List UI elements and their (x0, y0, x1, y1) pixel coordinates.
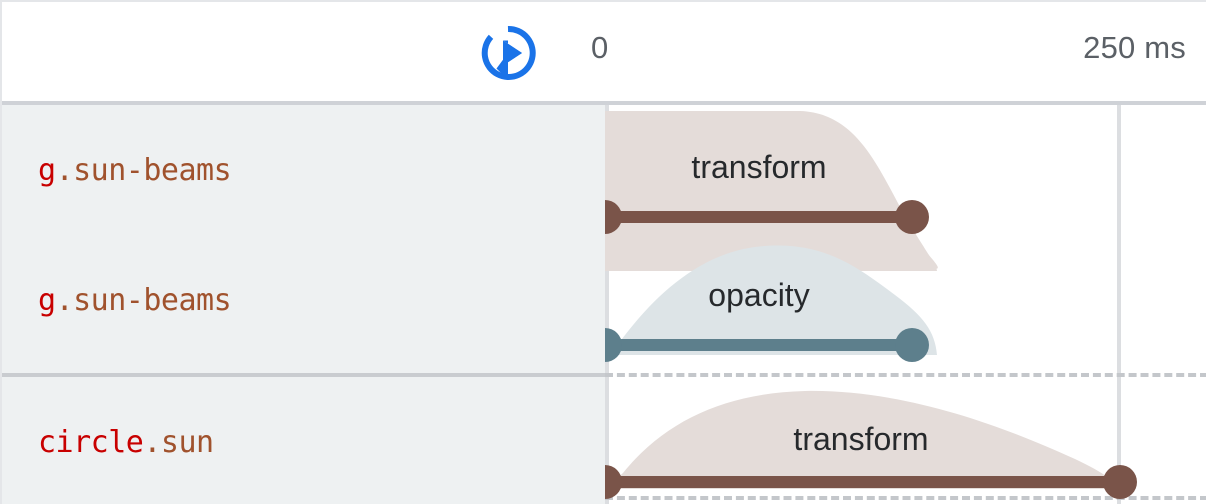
selector-class-2: .sun (143, 425, 213, 460)
animation-lanes: transform opacity transform (605, 105, 1206, 504)
replay-play-icon[interactable] (479, 24, 537, 82)
animations-panel: 0 250 ms g.sun-beams g.sun-beams circle.… (0, 0, 1206, 504)
replay-play-icon-svg (479, 24, 537, 82)
animation-row-2[interactable]: circle.sun (2, 377, 605, 504)
keyframe-start-handle-2[interactable] (605, 465, 622, 499)
lane-transform-sunbeams[interactable]: transform (605, 105, 1206, 235)
lane-transform-sun[interactable]: transform (605, 377, 1206, 504)
selector-tag-2: circle (38, 425, 143, 460)
property-label-0: transform (691, 149, 826, 186)
selector-class-1: .sun-beams (56, 283, 232, 318)
keyframe-end-handle-1[interactable] (895, 328, 929, 362)
keyframe-bar-0[interactable] (605, 211, 912, 223)
keyframe-start-handle-0[interactable] (605, 200, 622, 234)
selector-1: g.sun-beams (38, 283, 231, 318)
tick-label-end: 250 ms (1083, 30, 1186, 66)
tick-label-start: 0 (591, 30, 608, 66)
keyframe-end-handle-2[interactable] (1103, 465, 1137, 499)
animation-row-0[interactable]: g.sun-beams (2, 105, 605, 235)
selector-0: g.sun-beams (38, 153, 231, 188)
timeline-header: 0 250 ms (2, 2, 1206, 105)
keyframe-start-handle-1[interactable] (605, 328, 622, 362)
property-label-1: opacity (708, 277, 809, 314)
keyframe-bar-1[interactable] (605, 339, 912, 351)
animation-row-1[interactable]: g.sun-beams (2, 235, 605, 365)
keyframe-end-handle-0[interactable] (895, 200, 929, 234)
keyframe-bar-2[interactable] (605, 476, 1120, 488)
selector-2: circle.sun (38, 425, 214, 460)
selector-class-0: .sun-beams (56, 153, 232, 188)
lane-opacity-sunbeams[interactable]: opacity (605, 235, 1206, 365)
animation-name-column: g.sun-beams g.sun-beams circle.sun (2, 105, 605, 504)
selector-tag-0: g (38, 153, 56, 188)
selector-tag-1: g (38, 283, 56, 318)
property-label-2: transform (793, 421, 928, 458)
